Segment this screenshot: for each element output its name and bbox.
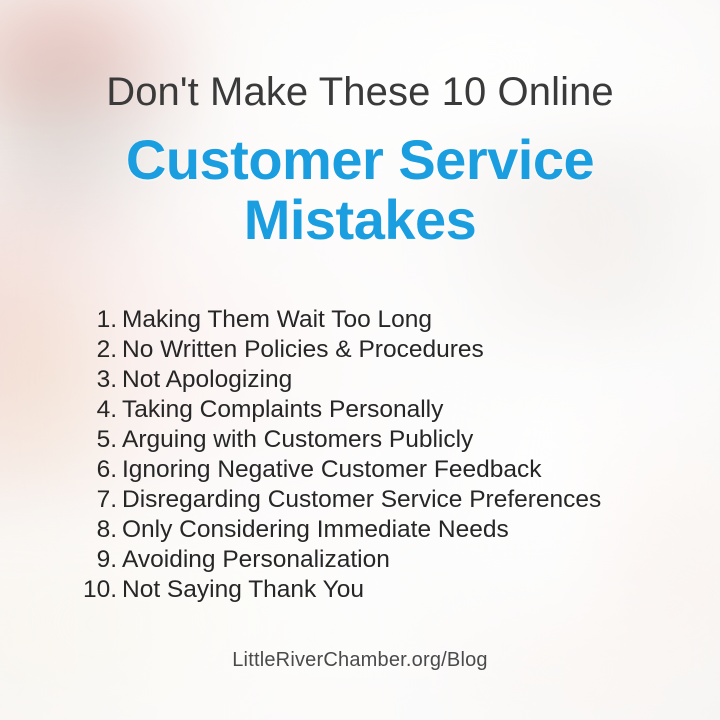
mistakes-list: 1. Making Them Wait Too Long 2. No Writt… (0, 305, 720, 605)
list-item-number: 3. (78, 365, 122, 395)
list-item: 2. No Written Policies & Procedures (0, 335, 720, 365)
list-item: 7. Disregarding Customer Service Prefere… (0, 485, 720, 515)
infographic-poster: Don't Make These 10 Online Customer Serv… (0, 0, 720, 720)
list-item-label: Not Saying Thank You (122, 575, 364, 605)
list-item-number: 5. (78, 425, 122, 455)
list-item-label: Ignoring Negative Customer Feedback (122, 455, 541, 485)
headline-line-2: Mistakes (0, 190, 720, 250)
list-item: 9. Avoiding Personalization (0, 545, 720, 575)
list-item-number: 2. (78, 335, 122, 365)
list-item-label: Only Considering Immediate Needs (122, 515, 509, 545)
poster-subtitle: Don't Make These 10 Online (0, 72, 720, 112)
list-item-label: Arguing with Customers Publicly (122, 425, 473, 455)
list-item-number: 7. (78, 485, 122, 515)
list-item-number: 6. (78, 455, 122, 485)
list-item-label: Taking Complaints Personally (122, 395, 443, 425)
list-item-label: Not Apologizing (122, 365, 292, 395)
headline-line-1: Customer Service (126, 128, 594, 191)
list-item-label: Avoiding Personalization (122, 545, 390, 575)
list-item: 10. Not Saying Thank You (0, 575, 720, 605)
poster-headline: Customer Service Mistakes (0, 130, 720, 251)
list-item-number: 9. (78, 545, 122, 575)
list-item: 3. Not Apologizing (0, 365, 720, 395)
list-item: 4. Taking Complaints Personally (0, 395, 720, 425)
list-item-number: 1. (78, 305, 122, 335)
list-item-label: No Written Policies & Procedures (122, 335, 484, 365)
list-item-number: 4. (78, 395, 122, 425)
footer-url[interactable]: LittleRiverChamber.org/Blog (0, 649, 720, 672)
list-item-number: 10. (78, 575, 122, 605)
list-item-label: Making Them Wait Too Long (122, 305, 432, 335)
list-item-label: Disregarding Customer Service Preference… (122, 485, 601, 515)
list-item: 5. Arguing with Customers Publicly (0, 425, 720, 455)
list-item: 1. Making Them Wait Too Long (0, 305, 720, 335)
list-item-number: 8. (78, 515, 122, 545)
list-item: 6. Ignoring Negative Customer Feedback (0, 455, 720, 485)
list-item: 8. Only Considering Immediate Needs (0, 515, 720, 545)
poster-content: Don't Make These 10 Online Customer Serv… (0, 0, 720, 720)
